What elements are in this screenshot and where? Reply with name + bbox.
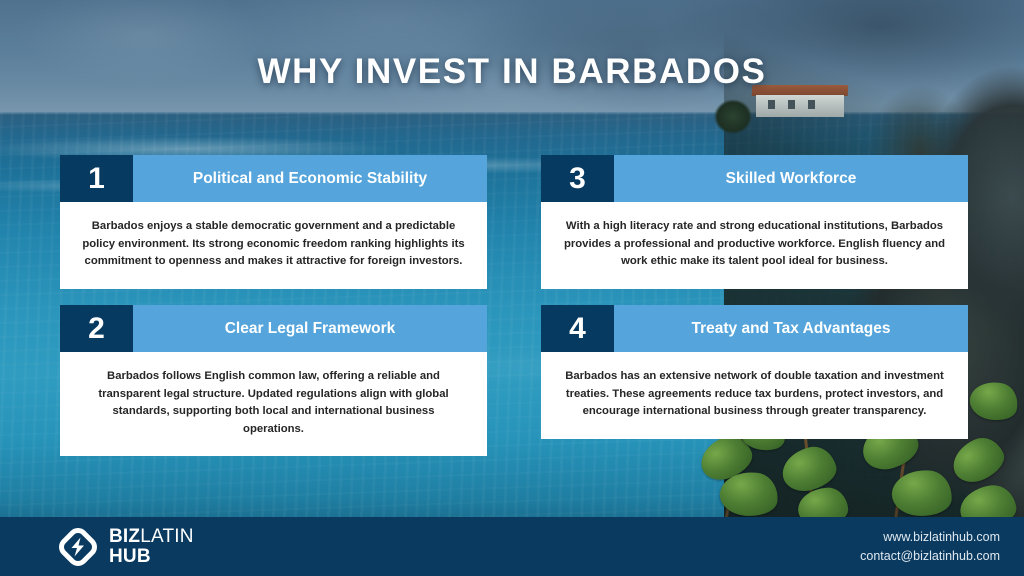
bizlatinhub-logo-icon — [58, 527, 98, 567]
cliff-tree — [710, 96, 756, 142]
card-1: 1 Political and Economic Stability Barba… — [60, 155, 487, 289]
brand-hub: HUB — [109, 547, 194, 566]
card-4-heading: Treaty and Tax Advantages — [614, 305, 968, 352]
foliage-leaf — [967, 377, 1022, 424]
card-1-body: Barbados enjoys a stable democratic gove… — [60, 202, 487, 289]
email-link[interactable]: contact@bizlatinhub.com — [860, 547, 1000, 565]
infographic-slide: WHY INVEST IN BARBADOS 1 Political and E… — [0, 0, 1024, 576]
card-2: 2 Clear Legal Framework Barbados follows… — [60, 305, 487, 456]
house-window — [768, 100, 775, 109]
brand-line-1: BIZLATIN — [109, 527, 194, 546]
card-4-body: Barbados has an extensive network of dou… — [541, 352, 968, 439]
foliage-leaf — [946, 431, 1010, 489]
card-3-number: 3 — [541, 155, 614, 202]
card-3: 3 Skilled Workforce With a high literacy… — [541, 155, 968, 289]
brand-biz: BIZ — [109, 526, 140, 547]
card-2-number: 2 — [60, 305, 133, 352]
card-1-heading: Political and Economic Stability — [133, 155, 487, 202]
card-4: 4 Treaty and Tax Advantages Barbados has… — [541, 305, 968, 439]
card-4-header: 4 Treaty and Tax Advantages — [541, 305, 968, 352]
card-3-body: With a high literacy rate and strong edu… — [541, 202, 968, 289]
house-window — [808, 100, 815, 109]
card-2-heading: Clear Legal Framework — [133, 305, 487, 352]
card-1-number: 1 — [60, 155, 133, 202]
card-3-header: 3 Skilled Workforce — [541, 155, 968, 202]
website-link[interactable]: www.bizlatinhub.com — [860, 528, 1000, 546]
card-1-header: 1 Political and Economic Stability — [60, 155, 487, 202]
page-title: WHY INVEST IN BARBADOS — [0, 52, 1024, 92]
brand-latin: LATIN — [140, 526, 193, 547]
card-4-number: 4 — [541, 305, 614, 352]
brand-logo[interactable]: BIZLATIN HUB — [58, 527, 194, 567]
cards-grid: 1 Political and Economic Stability Barba… — [60, 155, 968, 421]
footer-bar: BIZLATIN HUB www.bizlatinhub.com contact… — [0, 517, 1024, 576]
card-2-header: 2 Clear Legal Framework — [60, 305, 487, 352]
brand-wordmark: BIZLATIN HUB — [109, 527, 194, 566]
house-window — [788, 100, 795, 109]
card-2-body: Barbados follows English common law, off… — [60, 352, 487, 456]
contact-info: www.bizlatinhub.com contact@bizlatinhub.… — [860, 528, 1000, 564]
card-3-heading: Skilled Workforce — [614, 155, 968, 202]
